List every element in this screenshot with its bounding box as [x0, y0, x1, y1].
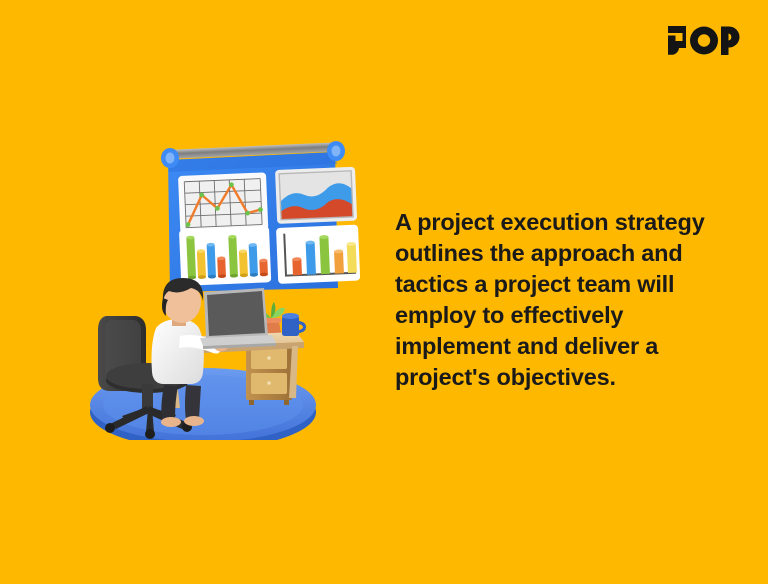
laptop	[200, 288, 276, 349]
bar-chart-panel	[276, 225, 360, 284]
coffee-mug	[282, 313, 306, 336]
line-chart-panel	[178, 172, 268, 234]
jop-logo	[668, 26, 740, 56]
hero-illustration	[60, 140, 360, 440]
body-copy: A project execution strategy outlines th…	[395, 207, 705, 393]
presentation-board	[161, 141, 360, 292]
slide-canvas: A project execution strategy outlines th…	[0, 0, 768, 584]
column-chart-panel	[179, 226, 271, 286]
area-chart-panel	[275, 167, 357, 224]
